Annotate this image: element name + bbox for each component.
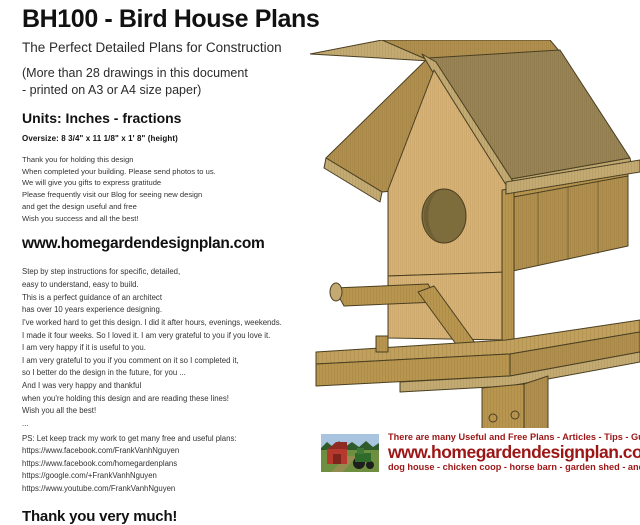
thank-you-note: Thank you for holding this design When c… [22, 154, 322, 225]
description-body: Step by step instructions for specific, … [22, 266, 322, 430]
closing-message: Thank you very much! [22, 508, 322, 525]
thanks-line: Please frequently visit our Blog for see… [22, 189, 322, 201]
banner-text-block: There are many Useful and Free Plans - A… [388, 432, 640, 475]
body-line: ... [22, 418, 322, 431]
thanks-line: and get the design useful and free [22, 201, 322, 213]
thanks-line: Wish you success and all the best! [22, 213, 322, 225]
banner-categories: dog house - chicken coop - horse barn - … [388, 462, 640, 474]
thanks-line: Thank you for holding this design [22, 154, 322, 166]
mounting-post-front [482, 384, 524, 430]
oversize-label: Oversize: 8 3/4" x 11 1/8" x 1' 8" (heig… [22, 134, 322, 143]
link-youtube[interactable]: https://www.youtube.com/FrankVanhNguyen [22, 483, 322, 496]
banner-website-url[interactable]: www.homegardendesignplan.com [388, 443, 640, 462]
body-line: has over 10 years experience designing. [22, 304, 322, 317]
tractor-body [355, 453, 371, 462]
body-line: when you're holding this design and are … [22, 393, 322, 406]
thanks-line: When completed your building. Please sen… [22, 166, 322, 178]
page-title: BH100 - Bird House Plans [22, 6, 322, 32]
drawing-count-note: (More than 28 drawings in this document … [22, 65, 322, 99]
text-column: BH100 - Bird House Plans The Perfect Det… [22, 6, 322, 525]
body-line: I've worked hard to get this design. I d… [22, 317, 322, 330]
corner-post [502, 188, 514, 342]
link-facebook-page[interactable]: https://www.facebook.com/homegardenplans [22, 458, 322, 471]
note-line: - printed on A3 or A4 size paper) [22, 82, 322, 99]
barn-door [333, 454, 341, 464]
bird-house-drawing [310, 40, 640, 430]
page-subtitle: The Perfect Detailed Plans for Construct… [22, 41, 322, 56]
body-line: so I better do the design in the future,… [22, 367, 322, 380]
body-line: easy to understand, easy to build. [22, 279, 322, 292]
bird-house-illustration [310, 40, 640, 430]
units-label: Units: Inches - fractions [22, 110, 322, 126]
social-links-block: PS: Let keep track my work to get many f… [22, 433, 322, 496]
link-google-plus[interactable]: https://google.com/+FrankVanhNguyen [22, 470, 322, 483]
barn-photo-graphic [321, 434, 379, 472]
body-line: I made it four weeks. So I loved it. I a… [22, 330, 322, 343]
links-intro: PS: Let keep track my work to get many f… [22, 433, 322, 446]
tractor-wheel-front [366, 461, 374, 469]
body-line: Step by step instructions for specific, … [22, 266, 322, 279]
tractor-cab [357, 448, 364, 454]
note-line: (More than 28 drawings in this document [22, 65, 322, 82]
barn-tractor-photo [320, 433, 380, 473]
entrance-hole [422, 189, 466, 243]
mounting-post-side [524, 376, 548, 430]
body-line: Wish you all the best! [22, 405, 322, 418]
website-url[interactable]: www.homegardendesignplan.com [22, 235, 322, 253]
promo-banner[interactable]: There are many Useful and Free Plans - A… [318, 428, 640, 478]
thanks-line: We will give you gifts to express gratit… [22, 177, 322, 189]
body-line: This is a perfect guidance of an archite… [22, 292, 322, 305]
body-line: I am very happy if it is useful to you. [22, 342, 322, 355]
base-side-bracket [376, 336, 388, 352]
body-line: I am very grateful to you if you comment… [22, 355, 322, 368]
document-page: BH100 - Bird House Plans The Perfect Det… [0, 0, 640, 480]
body-line: And I was very happy and thankful [22, 380, 322, 393]
link-facebook-profile[interactable]: https://www.facebook.com/FrankVanhNguyen [22, 445, 322, 458]
